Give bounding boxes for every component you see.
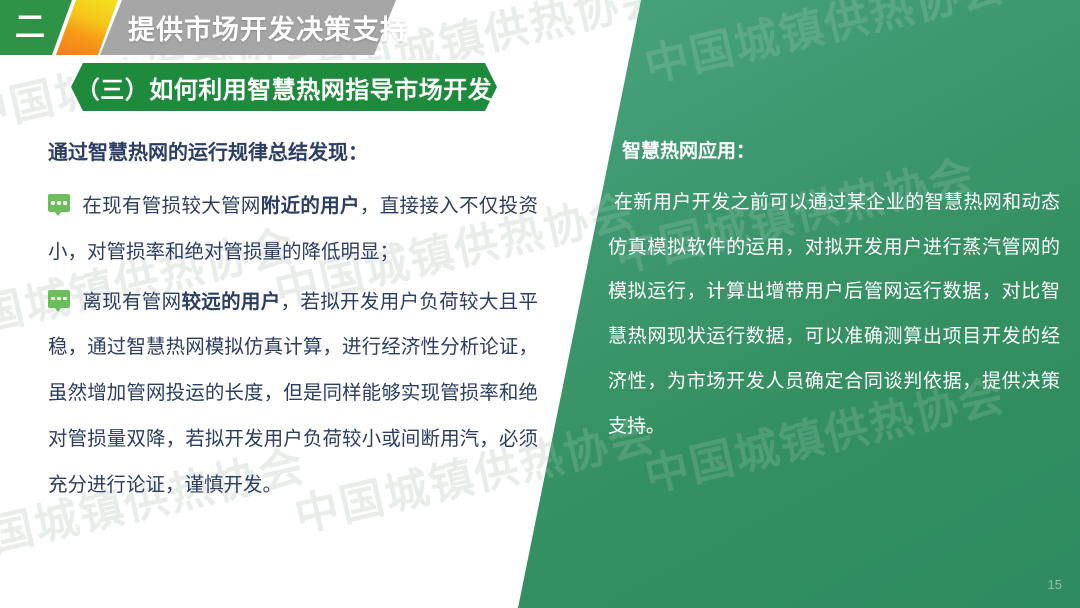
subtitle-banner: （三）如何利用智慧热网指导市场开发 xyxy=(68,60,500,114)
slide-canvas: 中国城镇供热协会 中国城镇供热协会 中国城镇供热协会 中国城镇供热协会 中国城镇… xyxy=(0,0,1080,608)
left-content-column: 通过智慧热网的运行规律总结发现： 在现有管损较大管网附近的用户，直接接入不仅投资… xyxy=(48,140,538,513)
right-content-column: 智慧热网应用： 在新用户开发之前可以通过某企业的智慧热网和动态仿真模拟软件的运用… xyxy=(608,140,1060,450)
bullet-text-before: 在现有管损较大管网 xyxy=(82,195,261,217)
left-heading: 通过智慧热网的运行规律总结发现： xyxy=(48,140,538,166)
speech-bubble-icon xyxy=(48,290,70,308)
section-number: 二 xyxy=(0,0,60,55)
bullet-text-before: 离现有管网 xyxy=(82,291,181,313)
bullet-text-after: ，若拟开发用户负荷较大且平稳，通过智慧热网模拟仿真计算，进行经济性分析论证，虽然… xyxy=(48,291,538,496)
bullet-text-bold: 较远的用户 xyxy=(181,291,280,313)
speech-bubble-icon xyxy=(48,194,70,212)
right-body-text: 在新用户开发之前可以通过某企业的智慧热网和动态仿真模拟软件的运用，对拟开发用户进… xyxy=(608,181,1060,450)
left-bullet-item: 离现有管网较远的用户，若拟开发用户负荷较大且平稳，通过智慧热网模拟仿真计算，进行… xyxy=(48,280,538,509)
subtitle-banner-label: （三）如何利用智慧热网指导市场开发 xyxy=(68,60,500,114)
bullet-text-bold: 附近的用户 xyxy=(261,195,360,217)
page-number: 15 xyxy=(1048,577,1062,592)
right-heading: 智慧热网应用： xyxy=(622,140,1060,165)
left-bullet-item: 在现有管损较大管网附近的用户，直接接入不仅投资小，对管损率和绝对管损量的降低明显… xyxy=(48,184,538,276)
header-title: 提供市场开发决策支持 xyxy=(128,0,408,55)
slide-header: 二 提供市场开发决策支持 xyxy=(0,0,400,55)
